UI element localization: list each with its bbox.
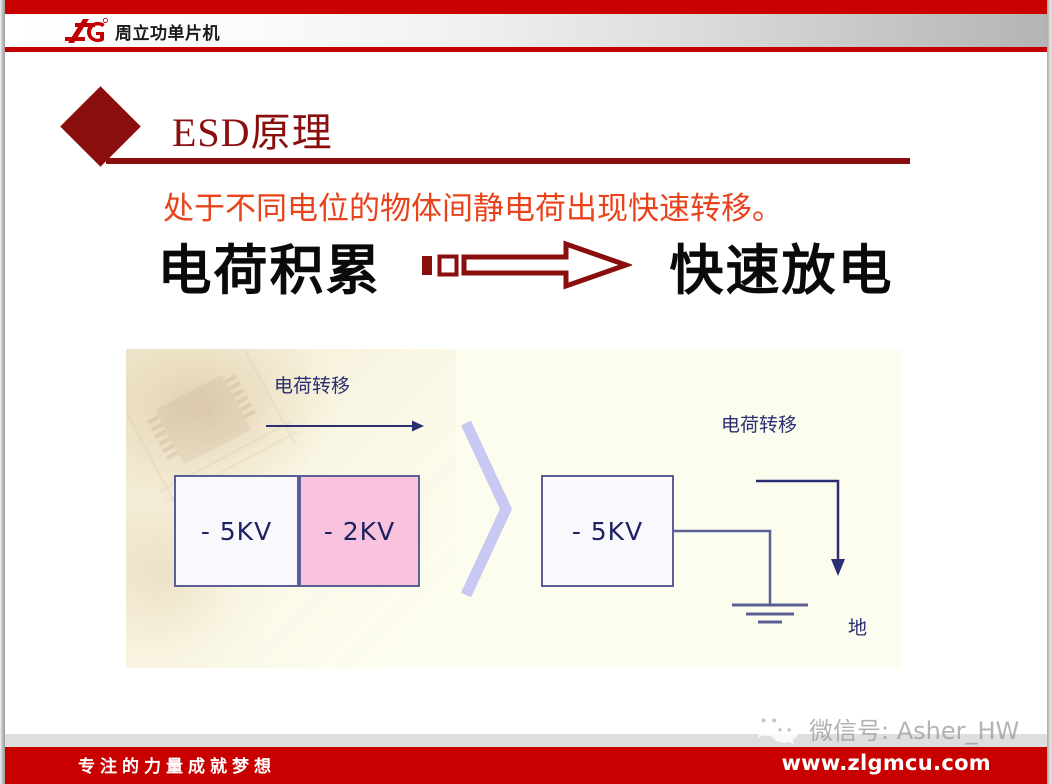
voltage-box-value: - 2KV: [324, 517, 395, 546]
slide-left-edge: [0, 0, 5, 784]
footer-slogan: 专注的力量成就梦想: [78, 752, 276, 777]
right-charge-transfer-label: 电荷转移: [721, 410, 797, 437]
title-underline: [106, 158, 910, 164]
voltage-box-minus-5kv-right: - 5KV: [541, 475, 674, 587]
statement-row: 电荷积累 快速放电: [0, 227, 1051, 303]
voltage-box-minus-2kv: - 2KV: [299, 475, 420, 587]
slide-canvas: 周立功单片机 ESD原理 处于不同电位的物体间静电荷出现快速转移。 电荷积累 快…: [0, 0, 1051, 784]
footer-gray-line: [5, 734, 1047, 747]
zlg-logo-icon: [62, 16, 108, 46]
right-arrow-down-icon: [754, 477, 864, 592]
left-charge-transfer-label: 电荷转移: [274, 371, 350, 398]
brand-name: 周立功单片机: [115, 19, 220, 44]
diamond-bullet-icon: [60, 86, 141, 167]
chevron-right-icon: [460, 419, 516, 604]
header-brand: 周立功单片机: [62, 15, 220, 47]
subtitle-text: 处于不同电位的物体间静电荷出现快速转移。: [163, 183, 783, 228]
block-arrow-right-icon: [420, 240, 632, 290]
voltage-box-minus-5kv-left: - 5KV: [174, 475, 299, 587]
voltage-box-value: - 5KV: [201, 517, 272, 546]
ground-label: 地: [848, 613, 867, 640]
slide-right-edge: [1047, 0, 1051, 784]
voltage-box-value: - 5KV: [572, 517, 643, 546]
left-arrow-right-icon: [266, 419, 426, 438]
footer-url[interactable]: www.zlgmcu.com: [781, 751, 991, 775]
header-red-rule: [5, 47, 1047, 52]
header-top-bar: [5, 0, 1047, 14]
statement-right-term: 快速放电: [670, 226, 894, 305]
esd-diagram: 电荷转移 - 5KV - 2KV 电荷转移: [126, 349, 901, 668]
statement-left-term: 电荷积累: [158, 226, 382, 305]
page-title: ESD原理: [172, 100, 333, 158]
